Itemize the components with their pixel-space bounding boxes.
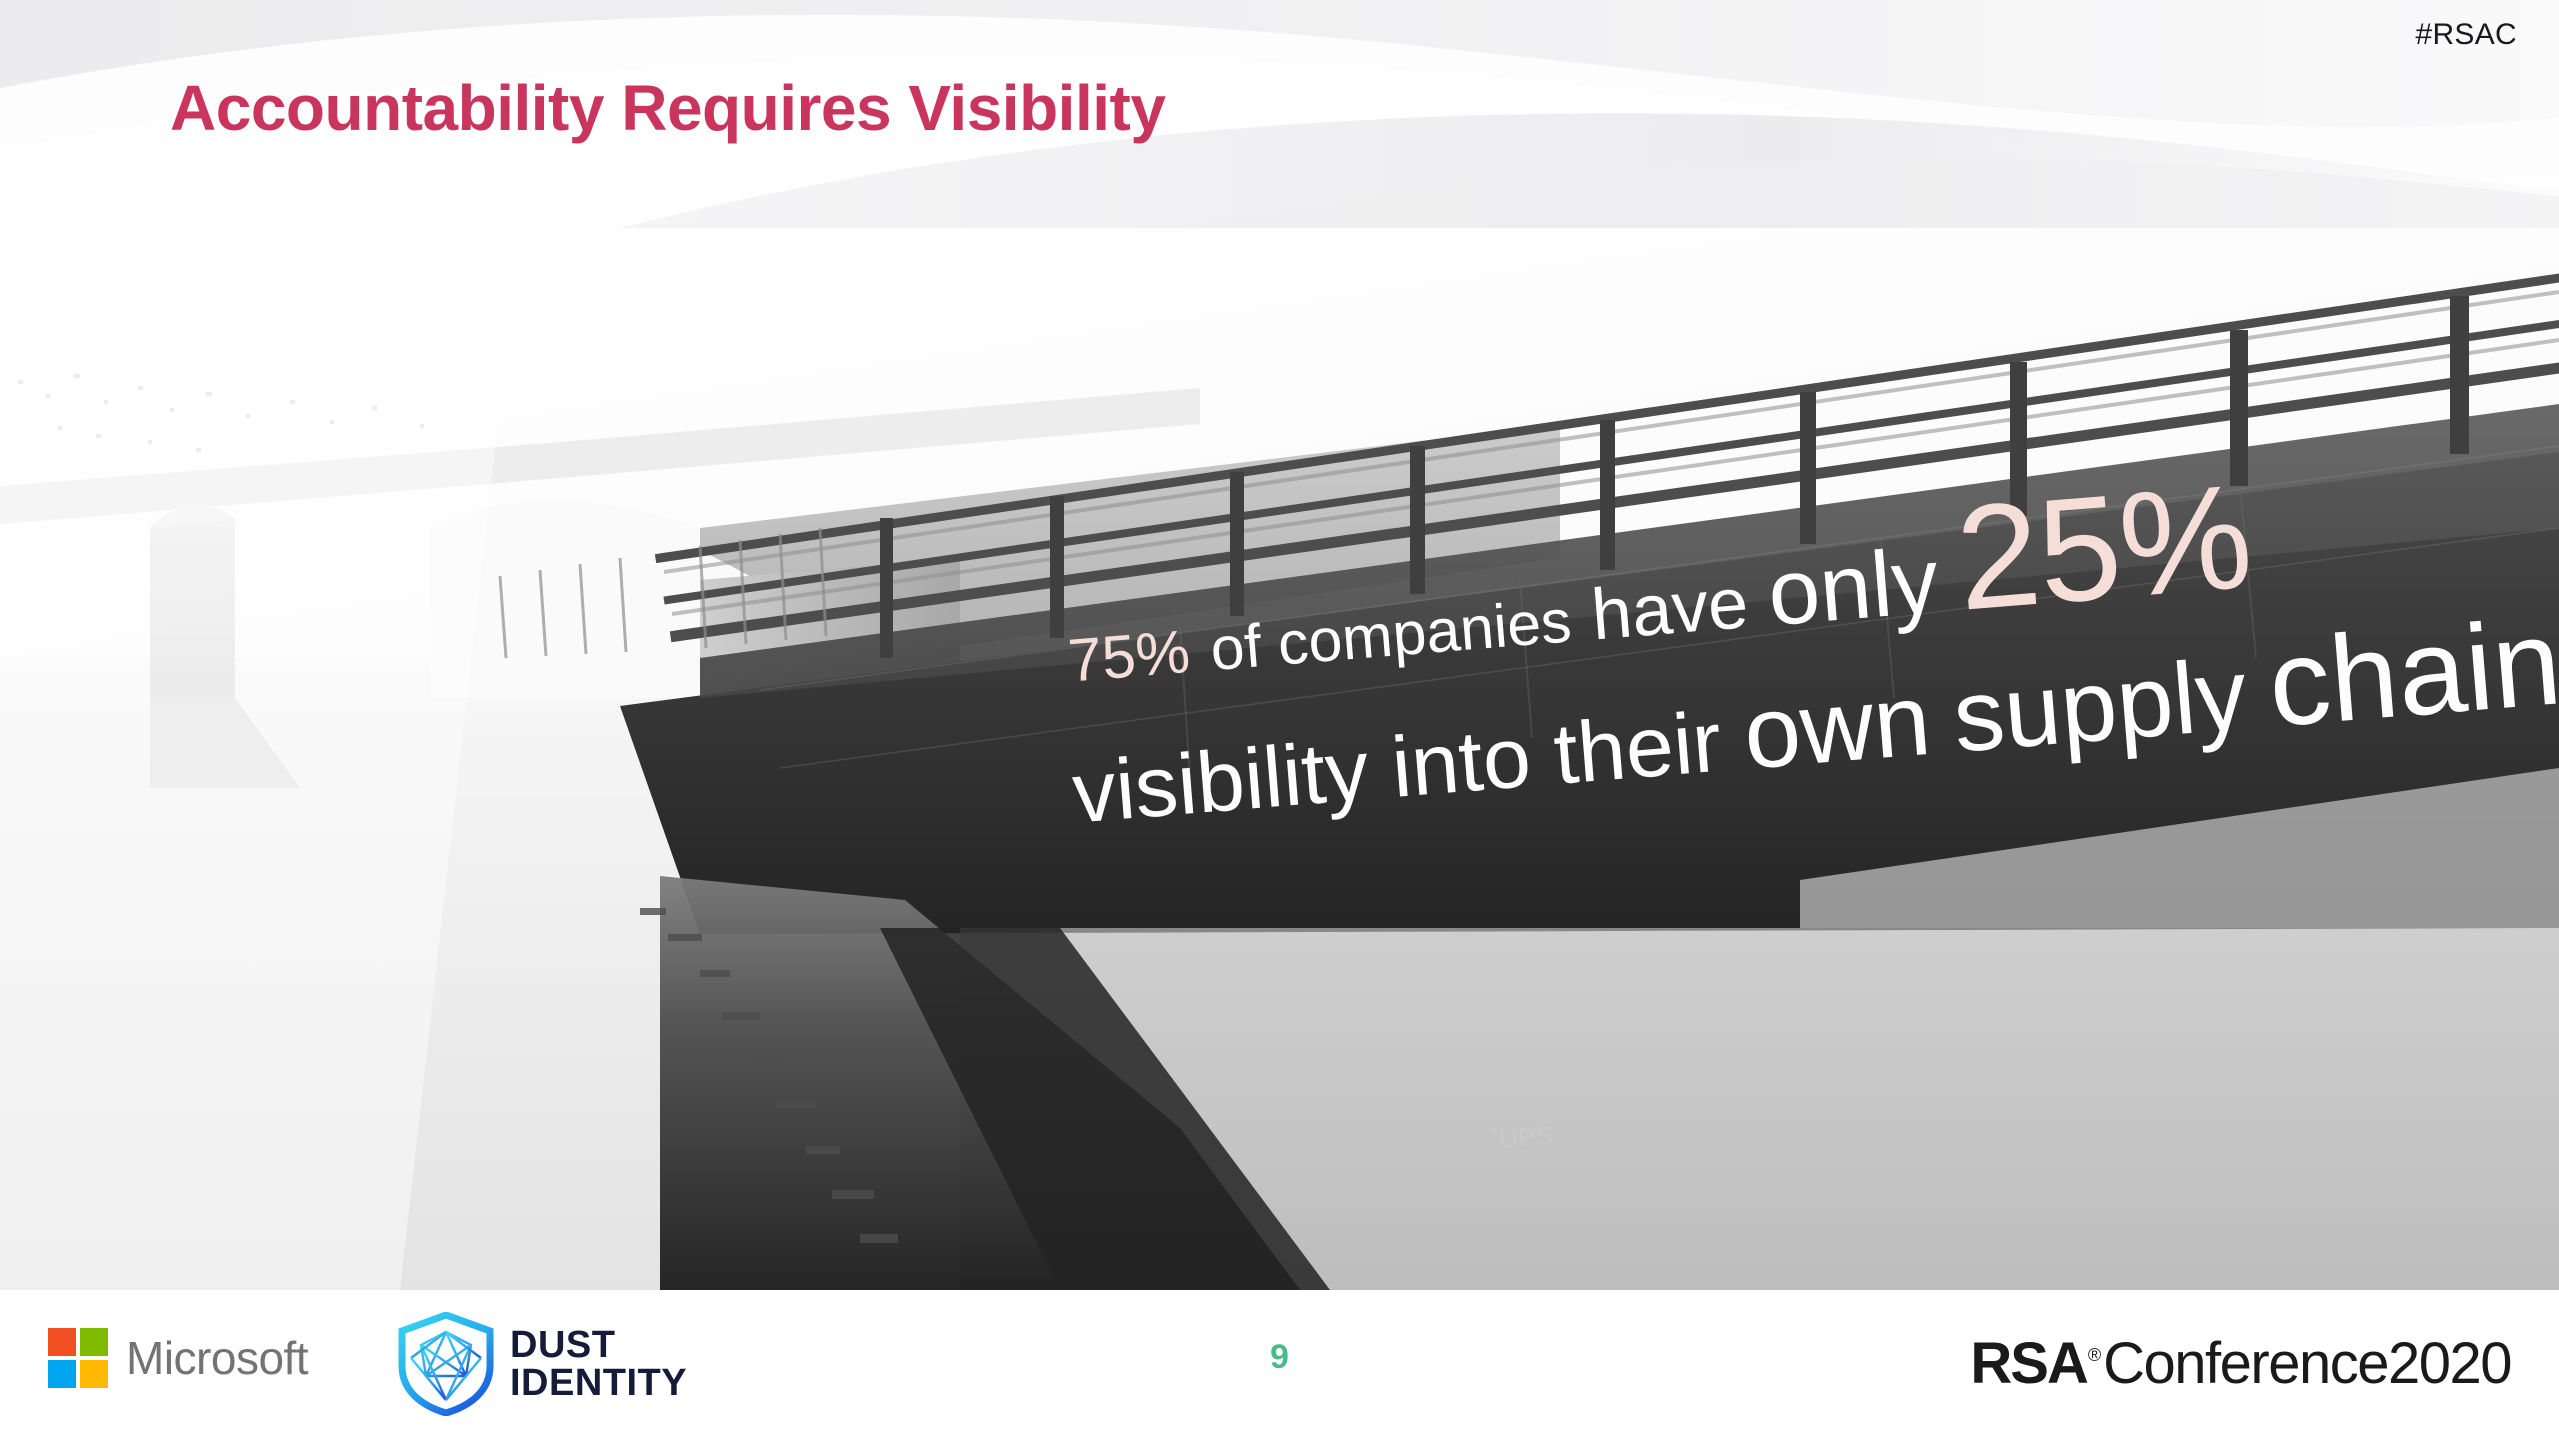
page-title: Accountability Requires Visibility <box>170 73 1165 143</box>
rsa-logo-light: Conference2020 <box>2103 1330 2511 1397</box>
bridge-photo-illustration <box>0 228 2559 1290</box>
rsa-conference-logo: RSA ® Conference2020 <box>1970 1330 2511 1397</box>
source-credit: *UPS <box>1490 1118 1555 1155</box>
registered-mark-icon: ® <box>2088 1345 2101 1366</box>
presentation-slide: Accountability Requires Visibility #RSAC <box>0 0 2559 1439</box>
slide-footer: Microsoft <box>0 1290 2559 1439</box>
credit-source: UPS <box>1498 1120 1555 1154</box>
rsa-logo-bold: RSA <box>1970 1330 2086 1397</box>
rsac-hashtag: #RSAC <box>2415 18 2517 52</box>
slide-header: Accountability Requires Visibility #RSAC <box>0 0 2559 228</box>
bridge-photo: 75% of companies have only 25% visibilit… <box>0 228 2559 1290</box>
